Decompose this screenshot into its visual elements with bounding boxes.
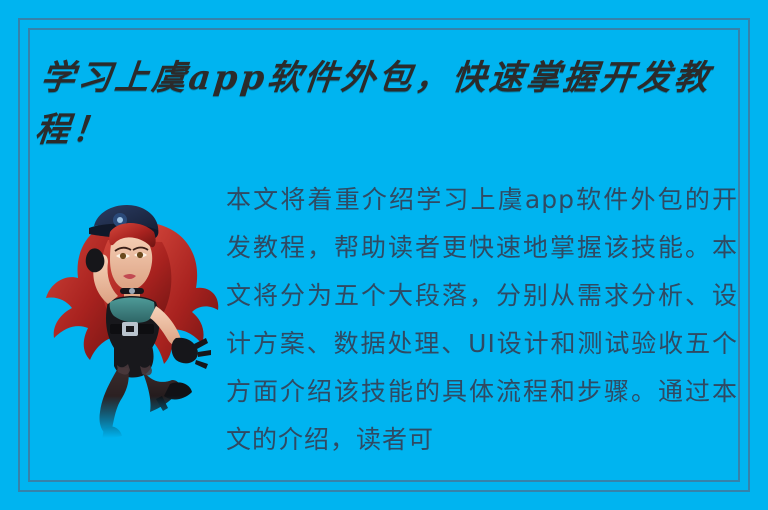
page-title: 学习上虞app软件外包，快速掌握开发教程！ [33, 52, 760, 156]
poster-canvas: 学习上虞app软件外包，快速掌握开发教程！ [0, 0, 768, 510]
female-game-character-illustration [34, 196, 220, 438]
article-body-text: 本文将着重介绍学习上虞app软件外包的开发教程，帮助读者更快速地掌握该技能。本文… [226, 176, 738, 466]
